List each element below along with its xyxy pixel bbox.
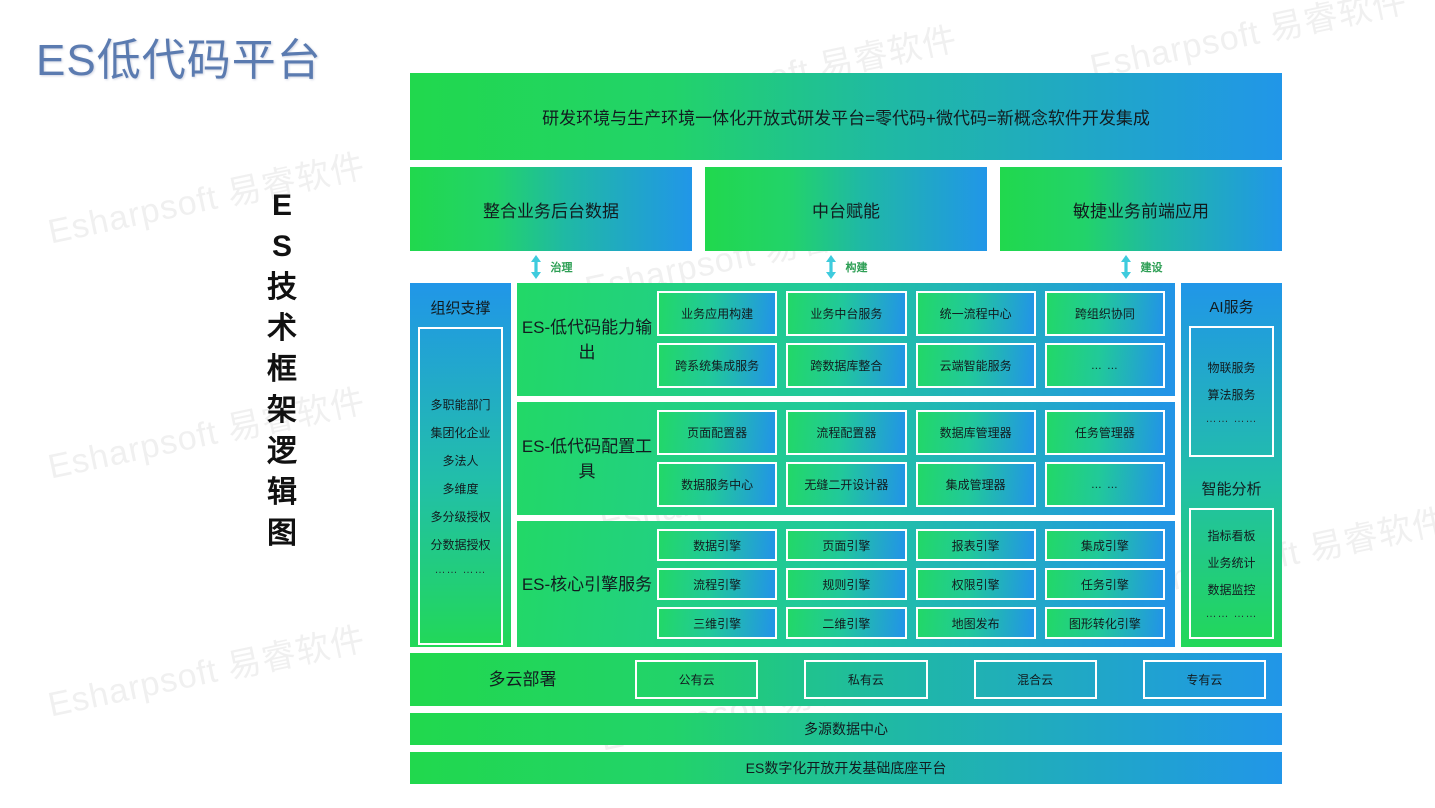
platform-banner-label: 研发环境与生产环境一体化开放式研发平台=零代码+微代码=新概念软件开发集成: [542, 104, 1150, 129]
capability-section-title: ES-低代码能力输出: [517, 315, 657, 365]
capability-section: ES-低代码能力输出业务应用构建业务中台服务统一流程中心跨组织协同跨系统集成服务…: [517, 283, 1175, 396]
multicloud-cell[interactable]: 专有云: [1143, 660, 1266, 699]
vertical-caption: ES技术框架逻辑图: [246, 185, 318, 554]
watermark: Esharpsoft 易睿软件: [43, 611, 369, 726]
capability-cell[interactable]: 权限引擎: [916, 568, 1036, 600]
pillar-box[interactable]: 中台赋能: [705, 167, 987, 251]
page-title: ES低代码平台: [36, 24, 322, 88]
arrow-cell: 治理: [410, 253, 692, 281]
middle-area: 组织支撑 多职能部门集团化企业多法人多维度多分级授权分数据授权…… …… ES-…: [410, 283, 1282, 647]
right-group-item[interactable]: 算法服务: [1207, 386, 1255, 403]
org-support-title: 组织支撑: [418, 292, 503, 327]
org-support-item[interactable]: …… ……: [434, 564, 486, 576]
watermark: Esharpsoft 易睿软件: [43, 373, 369, 488]
multicloud-cell[interactable]: 私有云: [804, 660, 927, 699]
capability-cell[interactable]: 数据服务中心: [657, 462, 777, 507]
double-arrow-icon: [530, 255, 542, 279]
footer-bar-label: ES数字化开放开发基础底座平台: [746, 758, 947, 778]
right-group-item[interactable]: …… ……: [1205, 413, 1257, 425]
double-arrow-icon: [825, 255, 837, 279]
right-group-item[interactable]: 业务统计: [1207, 554, 1255, 571]
vertical-caption-char: 框: [267, 349, 297, 390]
capability-cell[interactable]: 报表引擎: [916, 529, 1036, 561]
capability-cell[interactable]: 数据引擎: [657, 529, 777, 561]
right-group: AI服务物联服务算法服务…… ……: [1181, 283, 1282, 465]
multicloud-cell[interactable]: 公有云: [635, 660, 758, 699]
vertical-caption-char: E: [272, 185, 292, 226]
org-support-items: 多职能部门集团化企业多法人多维度多分级授权分数据授权…… ……: [418, 327, 503, 645]
org-support-item[interactable]: 多法人: [442, 452, 478, 469]
capability-section: ES-核心引擎服务数据引擎页面引擎报表引擎集成引擎流程引擎规则引擎权限引擎任务引…: [517, 521, 1175, 647]
org-support-column: 组织支撑 多职能部门集团化企业多法人多维度多分级授权分数据授权…… ……: [410, 283, 511, 647]
architecture-diagram: 研发环境与生产环境一体化开放式研发平台=零代码+微代码=新概念软件开发集成 整合…: [410, 73, 1282, 784]
capability-grid: 数据引擎页面引擎报表引擎集成引擎流程引擎规则引擎权限引擎任务引擎三维引擎二维引擎…: [657, 529, 1165, 639]
capability-cell[interactable]: 三维引擎: [657, 607, 777, 639]
capability-cell[interactable]: … …: [1045, 343, 1165, 388]
capability-cell[interactable]: … …: [1045, 462, 1165, 507]
org-support-item[interactable]: 多分级授权: [430, 508, 490, 525]
capability-cell[interactable]: 流程配置器: [786, 410, 906, 455]
right-group-item[interactable]: 指标看板: [1207, 527, 1255, 544]
capability-stack: ES-低代码能力输出业务应用构建业务中台服务统一流程中心跨组织协同跨系统集成服务…: [517, 283, 1175, 647]
right-group-items: 物联服务算法服务…… ……: [1189, 326, 1274, 457]
vertical-caption-char: S: [272, 226, 292, 267]
pillar-label: 整合业务后台数据: [483, 197, 619, 222]
capability-cell[interactable]: 跨组织协同: [1045, 291, 1165, 336]
org-support-item[interactable]: 多维度: [442, 480, 478, 497]
capability-cell[interactable]: 图形转化引擎: [1045, 607, 1165, 639]
capability-cell[interactable]: 集成管理器: [916, 462, 1036, 507]
right-group-item[interactable]: 数据监控: [1207, 581, 1255, 598]
arrow-row: 治理构建建设: [410, 253, 1282, 281]
capability-section-title: ES-低代码配置工具: [517, 434, 657, 484]
org-support-item[interactable]: 多职能部门: [430, 396, 490, 413]
vertical-caption-char: 术: [267, 308, 297, 349]
capability-cell[interactable]: 跨数据库整合: [786, 343, 906, 388]
multicloud-items: 公有云私有云混合云专有云: [635, 660, 1266, 699]
multicloud-title: 多云部署: [410, 667, 635, 692]
capability-cell[interactable]: 统一流程中心: [916, 291, 1036, 336]
pillar-label: 中台赋能: [812, 197, 880, 222]
footer-bar-foundation: ES数字化开放开发基础底座平台: [410, 752, 1282, 784]
right-group: 智能分析指标看板业务统计数据监控…… ……: [1181, 465, 1282, 647]
capability-cell[interactable]: 集成引擎: [1045, 529, 1165, 561]
capability-cell[interactable]: 无缝二开设计器: [786, 462, 906, 507]
arrow-cell: 建设: [1000, 253, 1282, 281]
org-support-item[interactable]: 集团化企业: [430, 424, 490, 441]
capability-cell[interactable]: 规则引擎: [786, 568, 906, 600]
vertical-caption-char: 图: [267, 513, 297, 554]
capability-section: ES-低代码配置工具页面配置器流程配置器数据库管理器任务管理器数据服务中心无缝二…: [517, 402, 1175, 515]
right-group-items: 指标看板业务统计数据监控…… ……: [1189, 508, 1274, 639]
org-support-item[interactable]: 分数据授权: [430, 536, 490, 553]
capability-grid: 业务应用构建业务中台服务统一流程中心跨组织协同跨系统集成服务跨数据库整合云端智能…: [657, 291, 1165, 388]
ai-analytics-column: AI服务物联服务算法服务…… ……智能分析指标看板业务统计数据监控…… ……: [1181, 283, 1282, 647]
capability-cell[interactable]: 二维引擎: [786, 607, 906, 639]
double-arrow-icon: [1120, 255, 1132, 279]
pillar-label: 敏捷业务前端应用: [1073, 197, 1209, 222]
arrow-cell: 构建: [705, 253, 987, 281]
capability-cell[interactable]: 流程引擎: [657, 568, 777, 600]
capability-section-title: ES-核心引擎服务: [517, 572, 657, 597]
vertical-caption-char: 技: [267, 267, 297, 308]
capability-cell[interactable]: 业务应用构建: [657, 291, 777, 336]
vertical-caption-char: 逻: [267, 431, 297, 472]
multicloud-row: 多云部署 公有云私有云混合云专有云: [410, 653, 1282, 706]
vertical-caption-char: 架: [267, 390, 297, 431]
capability-cell[interactable]: 业务中台服务: [786, 291, 906, 336]
pillar-row: 整合业务后台数据中台赋能敏捷业务前端应用: [410, 167, 1282, 251]
arrow-label: 治理: [551, 259, 573, 275]
capability-cell[interactable]: 任务管理器: [1045, 410, 1165, 455]
pillar-box[interactable]: 敏捷业务前端应用: [1000, 167, 1282, 251]
capability-cell[interactable]: 页面引擎: [786, 529, 906, 561]
platform-banner: 研发环境与生产环境一体化开放式研发平台=零代码+微代码=新概念软件开发集成: [410, 73, 1282, 160]
capability-grid: 页面配置器流程配置器数据库管理器任务管理器数据服务中心无缝二开设计器集成管理器……: [657, 410, 1165, 507]
footer-bar-datacenter: 多源数据中心: [410, 713, 1282, 745]
right-group-title: AI服务: [1189, 291, 1274, 326]
footer-bar-label: 多源数据中心: [804, 719, 888, 739]
right-group-title: 智能分析: [1189, 473, 1274, 508]
capability-cell[interactable]: 页面配置器: [657, 410, 777, 455]
capability-cell[interactable]: 云端智能服务: [916, 343, 1036, 388]
pillar-box[interactable]: 整合业务后台数据: [410, 167, 692, 251]
right-group-item[interactable]: 物联服务: [1207, 359, 1255, 376]
multicloud-cell[interactable]: 混合云: [974, 660, 1097, 699]
arrow-label: 构建: [846, 259, 868, 275]
vertical-caption-char: 辑: [267, 472, 297, 513]
watermark: Esharpsoft 易睿软件: [43, 138, 369, 253]
capability-cell[interactable]: 跨系统集成服务: [657, 343, 777, 388]
capability-cell[interactable]: 任务引擎: [1045, 568, 1165, 600]
slide-root: Esharpsoft 易睿软件 Esharpsoft 易睿软件 Esharpso…: [0, 0, 1435, 808]
capability-cell[interactable]: 地图发布: [916, 607, 1036, 639]
capability-cell[interactable]: 数据库管理器: [916, 410, 1036, 455]
arrow-label: 建设: [1141, 259, 1163, 275]
right-group-item[interactable]: …… ……: [1205, 608, 1257, 620]
